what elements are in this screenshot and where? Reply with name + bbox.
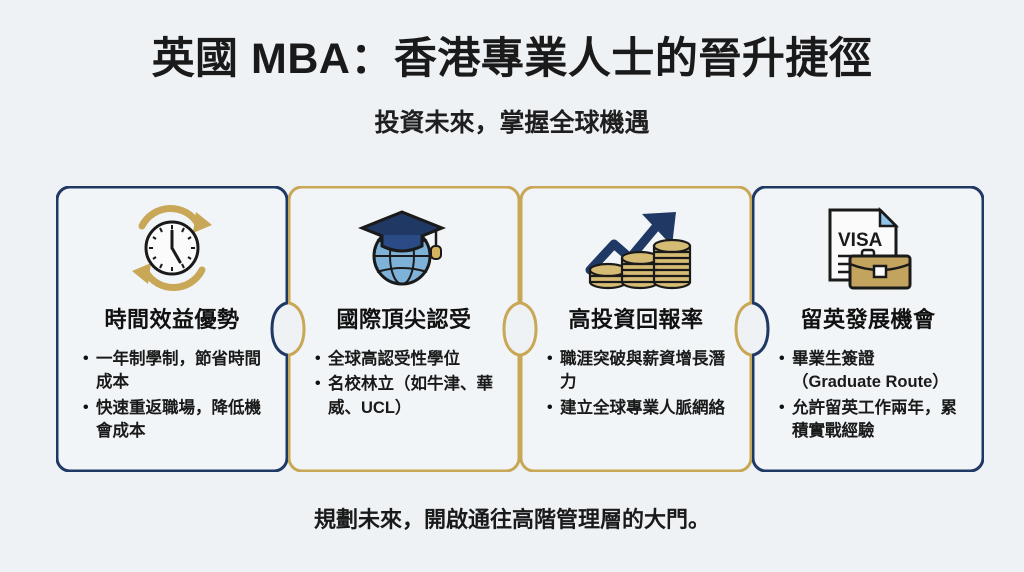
bullet-text: 職涯突破與薪資增長潛力: [560, 348, 725, 395]
bullet-marker: •: [547, 348, 560, 395]
benefit-card-high-roi[interactable]: 高投資回報率 • 職涯突破與薪資增長潛力 • 建立全球專業人脈網絡: [520, 186, 752, 472]
benefit-card-global-recognition[interactable]: 國際頂尖認受 • 全球高認受性學位 • 名校林立（如牛津、華威、UCL）: [288, 186, 520, 472]
svg-text:VISA: VISA: [838, 230, 883, 251]
list-item: • 建立全球專業人脈網絡: [547, 397, 725, 420]
card-heading: 高投資回報率: [568, 302, 703, 334]
list-item: • 畢業生簽證（Graduate Route）: [779, 348, 957, 395]
card-bullet-list: • 全球高認受性學位 • 名校林立（如牛津、華威、UCL）: [315, 348, 493, 422]
list-item: • 允許留英工作兩年，累積實戰經驗: [779, 397, 957, 444]
bullet-text: 快速重返職場，降低機會成本: [96, 397, 261, 444]
bullet-marker: •: [779, 348, 792, 395]
bullet-text: 建立全球專業人脈網絡: [560, 397, 725, 420]
card-heading: 時間效益優勢: [104, 302, 239, 334]
visa-document-briefcase-icon: VISA: [803, 200, 933, 296]
list-item: • 快速重返職場，降低機會成本: [83, 397, 261, 444]
bullet-text: 全球高認受性學位: [328, 348, 493, 371]
page-title: 英國 MBA：香港專業人士的晉升捷徑: [0, 36, 1024, 83]
list-item: • 全球高認受性學位: [315, 348, 493, 371]
infographic-canvas: 英國 MBA：香港專業人士的晉升捷徑 投資未來，掌握全球機遇: [0, 0, 1024, 572]
card-bullet-list: • 職涯突破與薪資增長潛力 • 建立全球專業人脈網絡: [547, 348, 725, 422]
graduation-cap-globe-icon: [339, 200, 469, 296]
bullet-text: 畢業生簽證（Graduate Route）: [792, 348, 957, 395]
growth-arrow-coins-icon: [571, 200, 701, 296]
card-bullet-list: • 一年制學制，節省時間成本 • 快速重返職場，降低機會成本: [83, 348, 261, 446]
card-heading: 國際頂尖認受: [336, 302, 471, 334]
bullet-marker: •: [83, 397, 96, 444]
list-item: • 一年制學制，節省時間成本: [83, 348, 261, 395]
clock-cycle-icon: [107, 200, 237, 296]
bullet-marker: •: [315, 373, 328, 420]
benefit-card-uk-career[interactable]: VISA 留英發展機會 • 畢業生簽證（Graduate Route）: [752, 186, 984, 472]
list-item: • 職涯突破與薪資增長潛力: [547, 348, 725, 395]
bullet-marker: •: [83, 348, 96, 395]
bullet-text: 一年制學制，節省時間成本: [96, 348, 261, 395]
list-item: • 名校林立（如牛津、華威、UCL）: [315, 373, 493, 420]
page-footer-note: 規劃未來，開啟通往高階管理層的大門。: [0, 502, 1024, 534]
benefit-card-time-efficiency[interactable]: 時間效益優勢 • 一年制學制，節省時間成本 • 快速重返職場，降低機會成本: [56, 186, 288, 472]
bullet-marker: •: [547, 397, 560, 420]
card-heading: 留英發展機會: [800, 302, 935, 334]
bullet-marker: •: [315, 348, 328, 371]
bullet-text: 名校林立（如牛津、華威、UCL）: [328, 373, 493, 420]
card-bullet-list: • 畢業生簽證（Graduate Route） • 允許留英工作兩年，累積實戰經…: [779, 348, 957, 446]
page-subtitle: 投資未來，掌握全球機遇: [0, 108, 1024, 138]
bullet-text: 允許留英工作兩年，累積實戰經驗: [792, 397, 957, 444]
bullet-marker: •: [779, 397, 792, 444]
